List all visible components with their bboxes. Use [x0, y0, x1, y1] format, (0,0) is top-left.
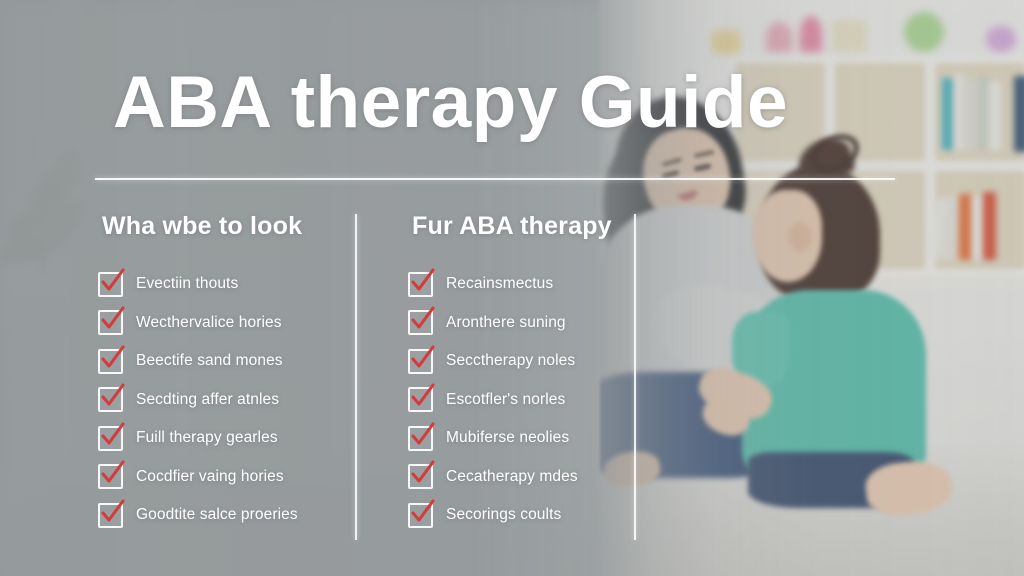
list-item[interactable]: Evectiin thouts — [98, 265, 346, 304]
list-item[interactable]: Mubiferse neolies — [408, 419, 630, 458]
checkmark-icon[interactable] — [98, 310, 123, 335]
list-item[interactable]: Escotfler's norles — [408, 381, 630, 420]
list-item-label: Aronthere suning — [446, 314, 566, 332]
slide-canvas: ABA therapy Guide Wha wbe to look Evecti… — [0, 0, 1024, 576]
list-item[interactable]: Cecatherapy mdes — [408, 458, 630, 497]
list-item-label: Cocdfier vaing hories — [136, 468, 284, 486]
list-item-label: Secdting affer atnles — [136, 391, 279, 409]
list-item-label: Goodtite salce proeries — [136, 506, 298, 524]
column-heading-left: Wha wbe to look — [102, 212, 346, 241]
checkmark-icon[interactable] — [98, 349, 123, 374]
list-item-label: Recainsmectus — [446, 275, 553, 293]
checkmark-icon[interactable] — [408, 310, 433, 335]
checkmark-icon[interactable] — [408, 272, 433, 297]
checkmark-icon[interactable] — [408, 349, 433, 374]
checkmark-icon[interactable] — [98, 387, 123, 412]
checklist-left: Evectiin thouts Wecthervalice hories Bee… — [98, 265, 346, 535]
list-item-label: Escotfler's norles — [446, 391, 565, 409]
list-item[interactable]: Fuill therapy gearles — [98, 419, 346, 458]
checkmark-icon[interactable] — [408, 503, 433, 528]
list-item[interactable]: Aronthere suning — [408, 304, 630, 343]
checkmark-icon[interactable] — [98, 426, 123, 451]
list-item[interactable]: Secctherapy noles — [408, 342, 630, 381]
list-item-label: Cecatherapy mdes — [446, 468, 578, 486]
page-title: ABA therapy Guide — [113, 66, 788, 139]
list-item[interactable]: Secdting affer atnles — [98, 381, 346, 420]
list-item[interactable]: Wecthervalice hories — [98, 304, 346, 343]
checklist-column-left: Wha wbe to look Evectiin thouts Wectherv… — [98, 212, 346, 535]
checkmark-icon[interactable] — [408, 464, 433, 489]
list-item-label: Mubiferse neolies — [446, 429, 569, 447]
list-item-label: Evectiin thouts — [136, 275, 238, 293]
checkmark-icon[interactable] — [98, 272, 123, 297]
title-divider — [95, 178, 895, 180]
slide-content: ABA therapy Guide Wha wbe to look Evecti… — [0, 0, 1024, 576]
list-item[interactable]: Beectife sand mones — [98, 342, 346, 381]
list-item-label: Wecthervalice hories — [136, 314, 282, 332]
checkmark-icon[interactable] — [408, 426, 433, 451]
checkmark-icon[interactable] — [408, 387, 433, 412]
list-item-label: Secorings coults — [446, 506, 561, 524]
checklist-right: Recainsmectus Aronthere suning Seccthera… — [408, 265, 630, 535]
checkmark-icon[interactable] — [98, 464, 123, 489]
column-heading-right: Fur ABA therapy — [412, 212, 630, 241]
column-divider-2 — [634, 214, 636, 540]
checklist-column-right: Fur ABA therapy Recainsmectus Aronthere … — [408, 212, 630, 535]
column-divider-1 — [355, 214, 357, 540]
list-item-label: Fuill therapy gearles — [136, 429, 278, 447]
checkmark-icon[interactable] — [98, 503, 123, 528]
list-item[interactable]: Secorings coults — [408, 496, 630, 535]
list-item[interactable]: Recainsmectus — [408, 265, 630, 304]
list-item-label: Secctherapy noles — [446, 352, 575, 370]
list-item[interactable]: Goodtite salce proeries — [98, 496, 346, 535]
list-item-label: Beectife sand mones — [136, 352, 283, 370]
list-item[interactable]: Cocdfier vaing hories — [98, 458, 346, 497]
